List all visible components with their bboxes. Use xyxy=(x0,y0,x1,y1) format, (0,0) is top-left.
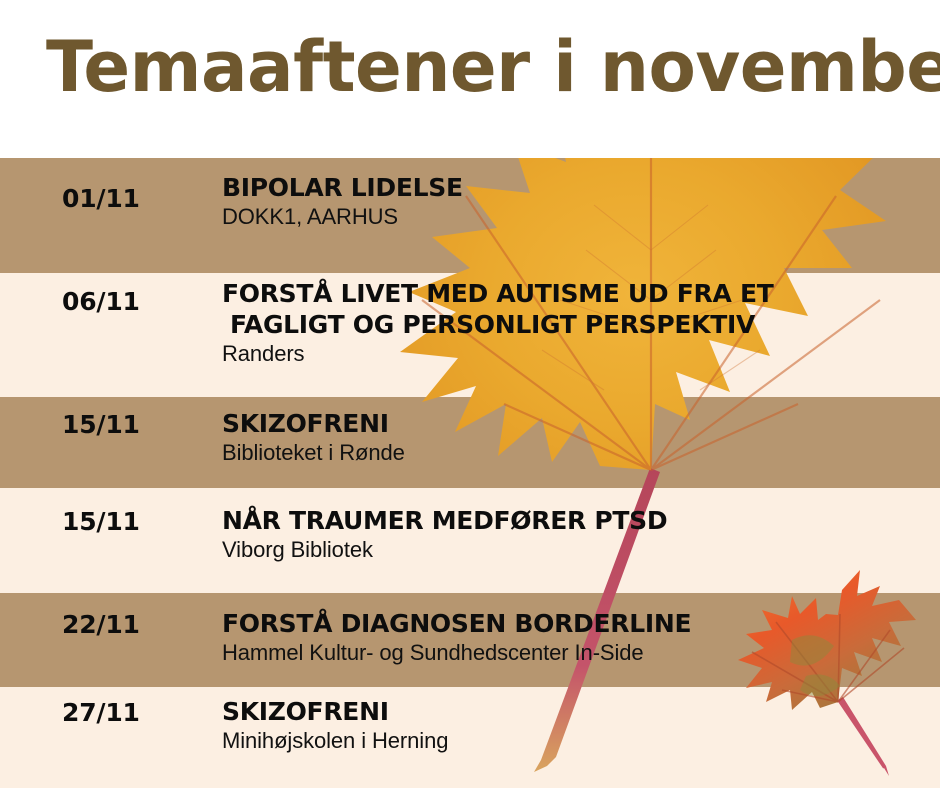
event-venue: Viborg Bibliotek xyxy=(222,536,922,564)
event-title-line1: FORSTÅ DIAGNOSEN BORDERLINE xyxy=(222,608,922,639)
event-venue: Minihøjskolen i Herning xyxy=(222,727,922,755)
event-body: FORSTÅ DIAGNOSEN BORDERLINE Hammel Kultu… xyxy=(222,608,922,667)
event-date: 06/11 xyxy=(62,287,212,316)
event-date: 27/11 xyxy=(62,698,212,727)
event-venue: Biblioteket i Rønde xyxy=(222,439,922,467)
event-date: 15/11 xyxy=(62,507,212,536)
event-venue: Hammel Kultur- og Sundhedscenter In-Side xyxy=(222,639,922,667)
poster-header: Temaaftener i november xyxy=(0,0,940,158)
event-body: SKIZOFRENI Biblioteket i Rønde xyxy=(222,408,922,467)
event-venue: DOKK1, AARHUS xyxy=(222,203,922,231)
event-title-line1: BIPOLAR LIDELSE xyxy=(222,172,922,203)
event-body: NÅR TRAUMER MEDFØRER PTSD Viborg Bibliot… xyxy=(222,505,922,564)
event-date: 22/11 xyxy=(62,610,212,639)
event-title-line1: SKIZOFRENI xyxy=(222,408,922,439)
event-title-line2: FAGLIGT OG PERSONLIGT PERSPEKTIV xyxy=(222,309,922,340)
event-body: BIPOLAR LIDELSE DOKK1, AARHUS xyxy=(222,172,922,231)
event-date: 01/11 xyxy=(62,184,212,213)
event-body: SKIZOFRENI Minihøjskolen i Herning xyxy=(222,696,922,755)
event-date: 15/11 xyxy=(62,410,212,439)
page-title: Temaaftener i november xyxy=(46,28,893,106)
event-title-line1: SKIZOFRENI xyxy=(222,696,922,727)
event-title-line1: FORSTÅ LIVET MED AUTISME UD FRA ET xyxy=(222,278,922,309)
poster-canvas: Temaaftener i november 01/11 BIPOLAR LID… xyxy=(0,0,940,788)
event-body: FORSTÅ LIVET MED AUTISME UD FRA ET FAGLI… xyxy=(222,278,922,368)
event-title-line1: NÅR TRAUMER MEDFØRER PTSD xyxy=(222,505,922,536)
event-venue: Randers xyxy=(222,340,922,368)
